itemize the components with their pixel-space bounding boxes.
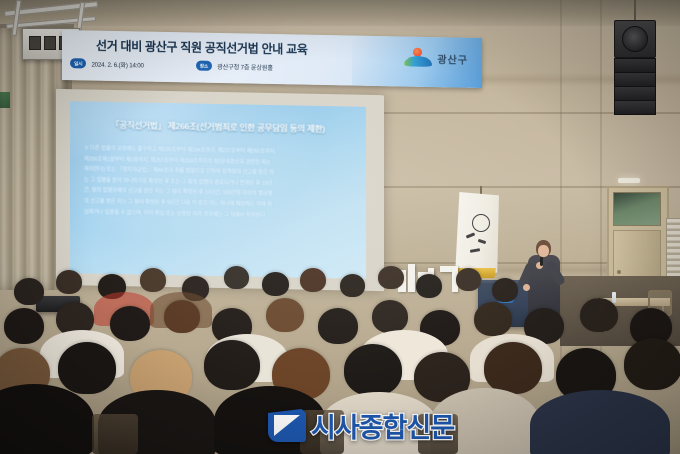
audience-head: [58, 342, 116, 394]
audience-head: [266, 298, 304, 332]
speaker-module: [614, 86, 656, 101]
audience-head: [318, 308, 358, 344]
datetime-text: 2024. 2. 6.(화) 14:00: [91, 59, 143, 69]
audience-head: [624, 338, 680, 390]
audience-torso: [0, 384, 94, 454]
audience-head: [56, 270, 82, 294]
audience-head: [580, 298, 618, 332]
speaker-module: [614, 100, 656, 115]
ceiling: [0, 0, 680, 26]
truss-leg: [12, 0, 22, 36]
banner-title: 선거 대비 광산구 직원 공직선거법 안내 교육: [96, 37, 308, 58]
datetime-pill: 일시: [70, 58, 86, 68]
speaker-module: [614, 58, 656, 73]
gwangsan-logo-text: 광산구: [437, 51, 468, 67]
banner-subline: 일시 2024. 2. 6.(화) 14:00 장소 광산구청 7층 윤상원홀: [70, 58, 273, 72]
audience-head: [344, 344, 402, 396]
projected-slide: 「공직선거법」 제266조(선거범죄로 인한 공무담임 등의 제한) ① 다른 …: [70, 101, 366, 279]
audience-head: [14, 278, 44, 305]
slide-body: ① 다른 법률의 규정에도 불구하고 제230조부터 제234조까지, 제237…: [84, 143, 354, 222]
gwangsan-logo: 광산구: [404, 48, 468, 69]
audience-head: [164, 300, 200, 333]
presenter-face: [538, 245, 549, 257]
speaker-module: [614, 72, 656, 87]
stage-lamp: [44, 36, 56, 50]
audience-head: [340, 274, 365, 297]
flag-emblem-icon: [472, 214, 490, 232]
speaker-hanging-rod: [634, 0, 636, 20]
audience-head: [204, 340, 260, 390]
watermark-text: 시사종합신문: [311, 406, 454, 445]
wave-icon: [404, 56, 432, 68]
watermark: 시사종합신문: [268, 406, 454, 445]
place-pill: 장소: [196, 61, 212, 71]
audience-head: [140, 268, 166, 292]
event-banner: 선거 대비 광산구 직원 공직선거법 안내 교육 일시 2024. 2. 6.(…: [62, 30, 482, 88]
sun-icon: [413, 48, 422, 57]
audience-head: [372, 300, 408, 333]
speaker-cone-icon: [622, 26, 648, 52]
stage-lamp: [29, 36, 41, 50]
place-text: 광산구청 7층 윤상원홀: [217, 61, 273, 71]
seat-back: [92, 414, 138, 454]
audience-head: [262, 272, 289, 296]
audience-head: [300, 268, 326, 292]
audience-head: [484, 342, 542, 394]
lecture-hall-photo: 「공직선거법」 제266조(선거범죄로 인한 공무담임 등의 제한) ① 다른 …: [0, 0, 680, 454]
audience-torso: [530, 390, 670, 454]
slide-title: 「공직선거법」 제266조(선거범죄로 인한 공무담임 등의 제한): [78, 118, 358, 135]
audience-head: [456, 268, 481, 291]
audience-head: [378, 266, 404, 289]
audience-head: [474, 302, 512, 336]
newspaper-book-icon: [268, 409, 306, 442]
audience-head: [492, 278, 518, 302]
audience-head: [110, 306, 150, 341]
audience-head: [4, 308, 44, 344]
audience-head: [224, 266, 249, 289]
transom-window: [613, 192, 661, 226]
audience-head: [416, 274, 442, 298]
exit-sign: [0, 92, 10, 108]
ceiling-light: [618, 178, 640, 183]
ceiling-speaker: [614, 20, 656, 58]
gwangsan-mark-icon: [404, 48, 432, 69]
